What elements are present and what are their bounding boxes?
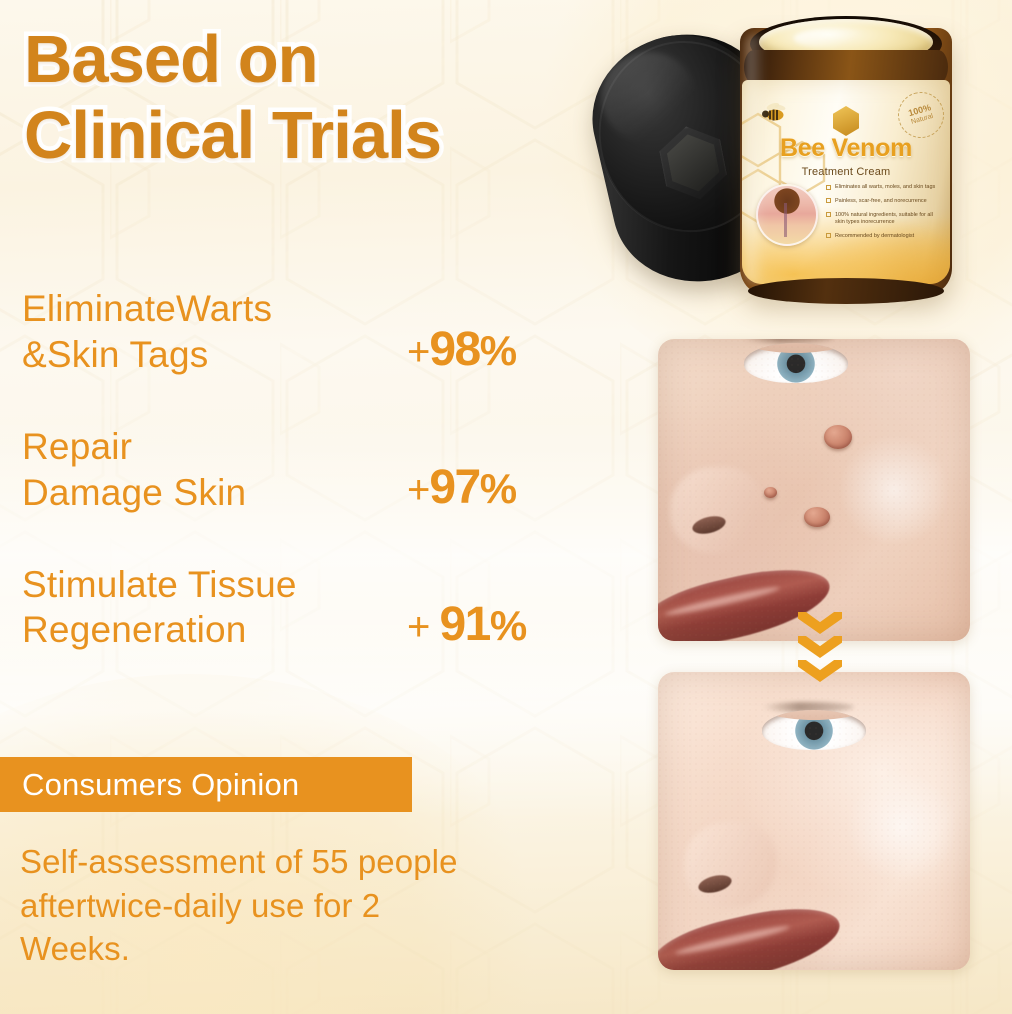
product-label: Bee Venom Treatment Cream 100% Natural E… (742, 80, 950, 284)
chevron-down-icon (798, 636, 842, 658)
checkbox-icon (826, 212, 831, 217)
label-feature-text: Recommended by dermatologist (835, 233, 914, 240)
cream-jar: Bee Venom Treatment Cream 100% Natural E… (732, 10, 960, 310)
consumers-opinion-banner: Consumers Opinion (0, 757, 412, 812)
photo-vignette (658, 339, 970, 641)
label-feature-item: Eliminates all warts, moles, and skin ta… (826, 184, 942, 191)
benefit-percentage: + 91% (407, 601, 526, 653)
after-treatment-photo (658, 672, 970, 970)
page-title: Based on Clinical Trials (24, 26, 624, 171)
brand-crest-icon (833, 106, 859, 136)
benefit-percentage: +97% (407, 464, 516, 516)
jar-highlight (746, 34, 766, 284)
benefit-percent-sign: % (480, 327, 516, 374)
benefit-row-regeneration: Stimulate Tissue Regeneration + 91% (22, 562, 622, 654)
poster-canvas: Based on Clinical Trials EliminateWarts … (0, 0, 1012, 1014)
consumers-opinion-title: Consumers Opinion (0, 767, 299, 803)
label-feature-text: Eliminates all warts, moles, and skin ta… (835, 184, 935, 191)
benefits-list: EliminateWarts &Skin Tags +98% Repair Da… (22, 286, 622, 653)
benefit-percentage: +98% (407, 326, 516, 378)
label-feature-text: 100% natural ingredients, suitable for a… (835, 212, 942, 226)
benefit-label: EliminateWarts &Skin Tags (22, 286, 407, 378)
consumers-opinion-body: Self-assessment of 55 people aftertwice-… (20, 840, 590, 971)
benefit-value: 97 (429, 461, 479, 514)
product-subtitle: Treatment Cream (742, 166, 950, 178)
benefit-plus-sign: + (407, 468, 429, 512)
benefit-label: Stimulate Tissue Regeneration (22, 562, 407, 654)
jar-base (748, 278, 944, 304)
benefit-value: 98 (429, 323, 479, 376)
jar-neck (744, 50, 948, 84)
before-treatment-photo (658, 339, 970, 641)
headline-line-1: Based on (24, 26, 624, 94)
label-feature-item: Painless, scar-free, and norecurrence (826, 198, 942, 205)
benefit-plus-sign: + (407, 330, 429, 374)
before-after-arrow-group (790, 612, 850, 688)
benefit-percent-sign: % (480, 465, 516, 512)
chevron-down-icon (798, 660, 842, 682)
photo-vignette (658, 672, 970, 970)
benefit-value: 91 (439, 598, 489, 651)
checkbox-icon (826, 198, 831, 203)
benefit-plus-sign: + (407, 605, 439, 649)
headline-line-2: Clinical Trials (24, 102, 624, 170)
product-shot: Bee Venom Treatment Cream 100% Natural E… (584, 10, 1004, 320)
checkbox-icon (826, 185, 831, 190)
benefit-label: Repair Damage Skin (22, 424, 407, 516)
benefit-row-warts: EliminateWarts &Skin Tags +98% (22, 286, 622, 378)
label-feature-text: Painless, scar-free, and norecurrence (835, 198, 927, 205)
label-feature-list: Eliminates all warts, moles, and skin ta… (826, 184, 942, 246)
checkbox-icon (826, 233, 831, 238)
chevron-down-icon (798, 612, 842, 634)
product-name: Bee Venom (742, 134, 950, 163)
benefit-row-repair: Repair Damage Skin +97% (22, 424, 622, 516)
label-feature-item: Recommended by dermatologist (826, 233, 942, 240)
benefit-percent-sign: % (490, 602, 526, 649)
label-feature-item: 100% natural ingredients, suitable for a… (826, 212, 942, 226)
